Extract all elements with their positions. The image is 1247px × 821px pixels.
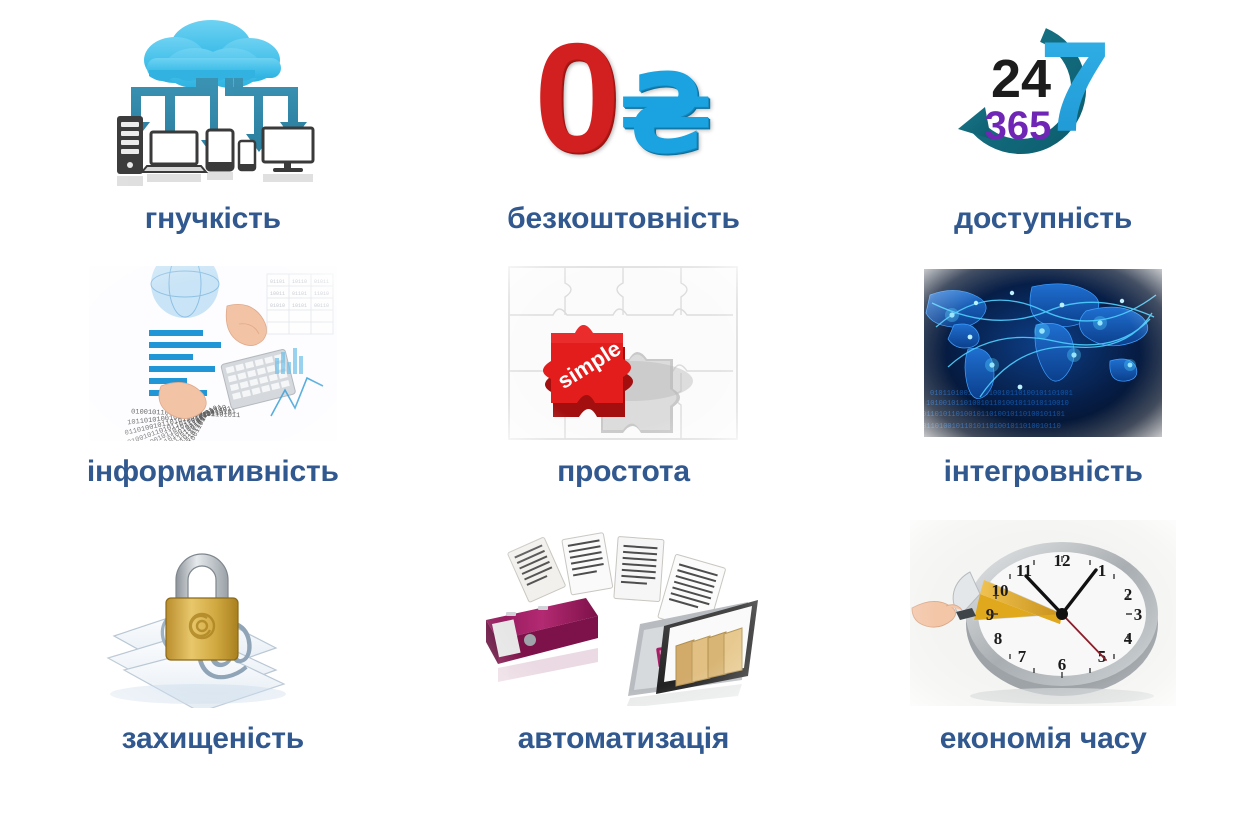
availability-art: 7 24 365 bbox=[938, 8, 1148, 188]
feature-label-time-saving: економія часу bbox=[940, 724, 1147, 754]
svg-text:01101: 01101 bbox=[270, 279, 285, 285]
simplicity-art: simple bbox=[505, 263, 741, 443]
svg-text:101001011010010110100101101011: 1010010110100101101001011010110010 bbox=[926, 400, 1069, 408]
feature-cell-automation: автоматизація bbox=[416, 510, 832, 785]
security-art: @ @ bbox=[88, 518, 338, 708]
informativeness-art: 10101011010010110101001101 0101101011010… bbox=[89, 263, 337, 443]
svg-text:011010110100101101001011010010: 0110101101001011010010110100101101 bbox=[924, 411, 1065, 419]
feature-label-integration: інтегровність bbox=[944, 457, 1143, 487]
feature-label-automation: автоматизація bbox=[518, 724, 729, 754]
svg-text:101101001011010110100101101001: 1011010010110101101001011010010110 bbox=[924, 423, 1061, 431]
hryvnia-sign: ₴ bbox=[618, 59, 713, 169]
svg-text:00110: 00110 bbox=[314, 303, 329, 309]
feature-label-security: захищеність bbox=[122, 724, 304, 754]
clock-number-6: 6 bbox=[1058, 655, 1067, 674]
svg-text:10101: 10101 bbox=[292, 303, 307, 309]
zero-digit: 0 bbox=[534, 27, 616, 170]
feature-label-free-of-charge: безкоштовність bbox=[507, 204, 740, 234]
feature-cell-availability: 7 24 365 доступність bbox=[831, 0, 1247, 255]
integration-art: 0101101001011010010110100101101001 10100… bbox=[924, 263, 1162, 443]
clock-slice-photo: 12 1 2 3 4 5 6 7 8 9 10 11 bbox=[910, 520, 1176, 706]
feature-label-informativeness: інформативність bbox=[87, 457, 339, 487]
flexibility-art bbox=[103, 8, 323, 188]
twentyfour-text: 24 bbox=[991, 49, 1051, 109]
feature-cell-informativeness: 10101011010010110101001101 0101101011010… bbox=[0, 255, 416, 510]
svg-text:010110100101101001011010010110: 0101101001011010010110100101101001 bbox=[930, 390, 1073, 398]
feature-cell-security: @ @ захищеніс bbox=[0, 510, 416, 785]
feature-label-availability: доступність bbox=[954, 204, 1132, 234]
svg-text:01011: 01011 bbox=[314, 279, 329, 285]
svg-text:10011: 10011 bbox=[270, 291, 285, 297]
time-saving-art: 12 1 2 3 4 5 6 7 8 9 10 11 bbox=[910, 518, 1176, 708]
feature-cell-flexibility: гнучкість bbox=[0, 0, 416, 255]
clock-number-1: 1 bbox=[1098, 561, 1107, 580]
clock-number-11: 11 bbox=[1016, 561, 1032, 580]
zero-hryvnia-icon: 0 ₴ bbox=[508, 11, 738, 186]
feature-cell-simplicity: simple простота bbox=[416, 255, 832, 510]
feature-label-simplicity: простота bbox=[557, 457, 690, 487]
feature-label-flexibility: гнучкість bbox=[145, 204, 281, 234]
documents-to-laptop-photo bbox=[478, 520, 768, 706]
global-network-photo: 0101101001011010010110100101101001 10100… bbox=[924, 269, 1162, 437]
clock-number-8: 8 bbox=[994, 629, 1003, 648]
features-grid: гнучкість 0 ₴ безкоштовність bbox=[0, 0, 1247, 821]
feature-cell-integration: 0101101001011010010110100101101001 10100… bbox=[831, 255, 1247, 510]
data-analytics-photo: 10101011010010110101001101 0101101011010… bbox=[89, 266, 337, 441]
feature-cell-free-of-charge: 0 ₴ безкоштовність bbox=[416, 0, 832, 255]
svg-text:10110: 10110 bbox=[292, 279, 307, 285]
svg-text:01010: 01010 bbox=[270, 303, 285, 309]
cloud-devices-icon bbox=[103, 8, 323, 188]
svg-text:01101: 01101 bbox=[292, 291, 307, 297]
padlock-email-photo: @ @ bbox=[88, 518, 338, 708]
automation-art bbox=[478, 518, 768, 708]
clock-number-10: 10 bbox=[992, 581, 1009, 600]
free-of-charge-art: 0 ₴ bbox=[508, 8, 738, 188]
svg-text:11010: 11010 bbox=[314, 291, 329, 297]
threesixtyfive-text: 365 bbox=[985, 104, 1052, 148]
clock-number-7: 7 bbox=[1018, 647, 1027, 666]
puzzle-simple-photo: simple bbox=[505, 263, 741, 443]
twentyfour-seven-365-icon: 7 24 365 bbox=[938, 11, 1148, 186]
clock-number-3: 3 bbox=[1134, 605, 1143, 624]
feature-cell-time-saving: 12 1 2 3 4 5 6 7 8 9 10 11 bbox=[831, 510, 1247, 785]
